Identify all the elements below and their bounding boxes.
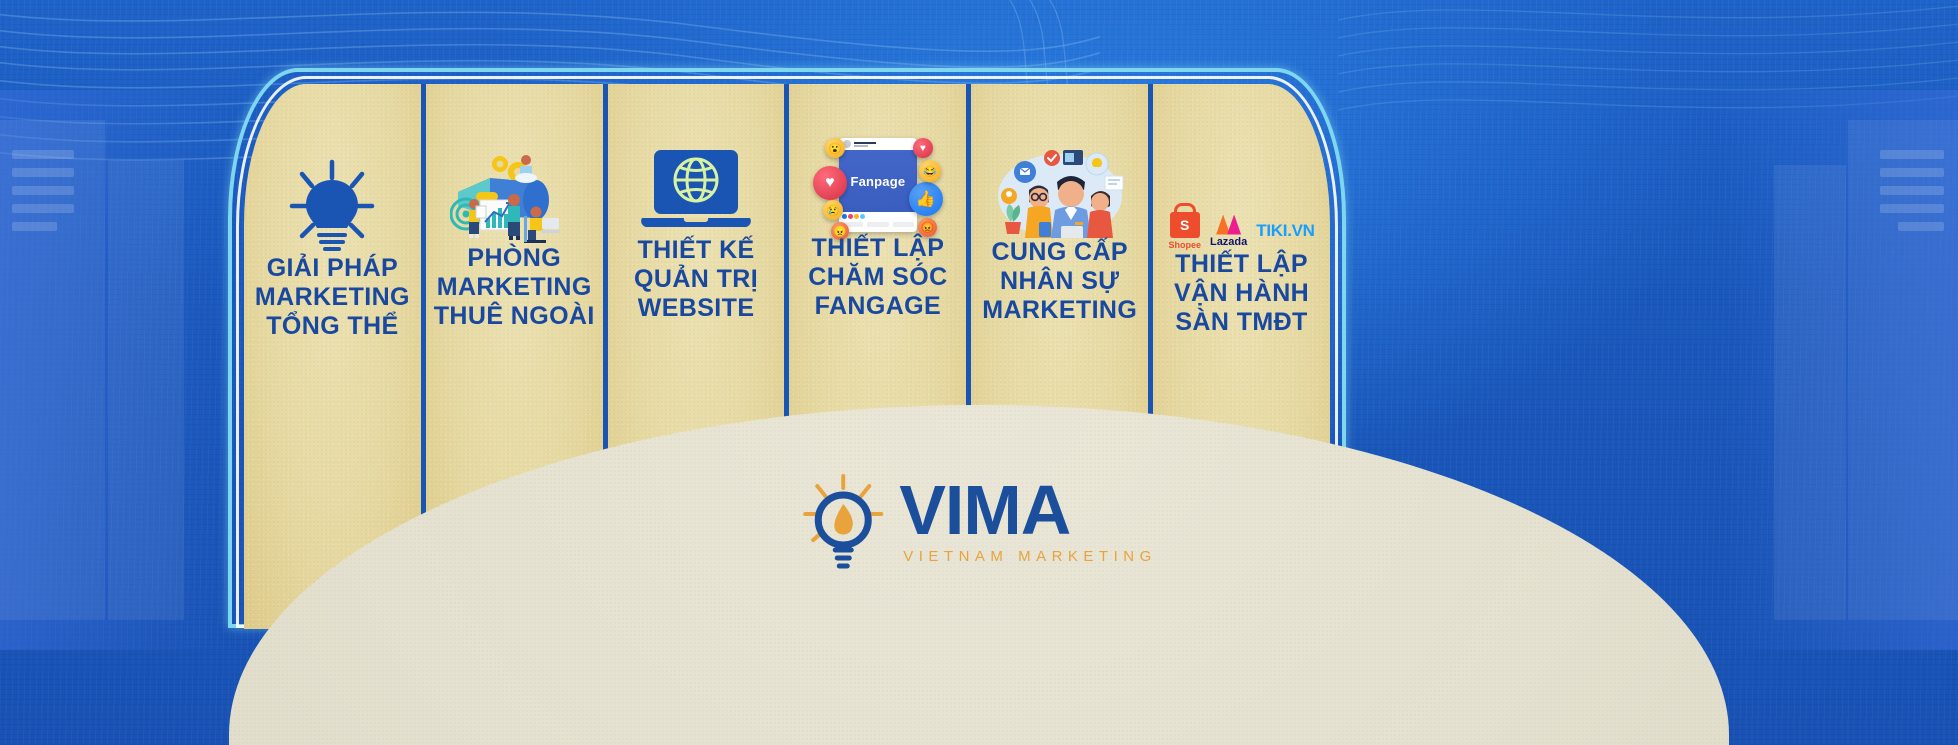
service-label: THIẾT LẬP CHĂM SÓC FANGAGE: [802, 234, 953, 321]
tiki-suffix: .VN: [1287, 221, 1314, 241]
lazada-mark-icon: [1216, 215, 1241, 235]
laptop-globe-icon: [638, 146, 754, 236]
fanpage-post-footer: [839, 212, 917, 232]
lazada-label: Lazada: [1210, 236, 1247, 248]
service-label: THIẾT KẾ QUẢN TRỊ WEBSITE: [628, 236, 764, 323]
facebook-fanpage-icon: Fanpage: [813, 134, 943, 234]
ecommerce-logos-icon: S Shopee Lazada TIKI .VN: [1168, 212, 1314, 250]
lightbulb-flame-icon: [801, 474, 885, 570]
tiki-label: TIKI: [1256, 221, 1287, 241]
reaction-sad: 😢: [823, 200, 843, 220]
marketing-team-icon: [995, 146, 1125, 238]
megaphone-team-icon: [450, 152, 578, 244]
service-label: GIẢI PHÁP MARKETING TỔNG THỂ: [249, 254, 416, 341]
lightbulb-icon: [286, 158, 378, 254]
reaction-haha: 😂: [919, 160, 941, 182]
shopee-bag-icon: S: [1170, 212, 1200, 238]
vima-wordmark: VIMA VIETNAM MARKETING: [899, 479, 1157, 565]
reaction-dots: [842, 214, 914, 219]
fanpage-post-card: Fanpage: [839, 138, 917, 232]
reaction-love-big: ♥: [813, 166, 847, 200]
fanpage-title: Fanpage: [839, 150, 917, 212]
icon-zone: Fanpage: [789, 84, 966, 234]
reaction-wow: 😮: [825, 138, 845, 158]
tiki-logo: TIKI .VN: [1256, 221, 1314, 241]
brand-name: VIMA: [899, 479, 1157, 542]
post-meta: [854, 142, 913, 147]
icon-zone: [608, 84, 785, 236]
banner-stage: GIẢI PHÁP MARKETING TỔNG THỂ: [0, 0, 1958, 745]
icon-zone: S Shopee Lazada TIKI .VN: [1153, 84, 1330, 250]
action-bar: [842, 222, 914, 227]
icon-zone: [426, 84, 603, 244]
reaction-like-big: 👍: [909, 182, 943, 216]
shopee-logo: S Shopee: [1168, 212, 1201, 250]
icon-zone: [971, 84, 1148, 238]
lazada-logo: Lazada: [1210, 215, 1247, 248]
brand-tagline: VIETNAM MARKETING: [899, 548, 1157, 565]
reaction-love-small: ♥: [913, 138, 933, 158]
service-label: CUNG CẤP NHÂN SỰ MARKETING: [976, 238, 1143, 325]
vima-logo[interactable]: VIMA VIETNAM MARKETING: [801, 474, 1157, 570]
service-label: PHÒNG MARKETING THUÊ NGOÀI: [428, 244, 601, 331]
fanpage-post-header: [839, 138, 917, 150]
shopee-label: Shopee: [1168, 240, 1201, 250]
service-label: THIẾT LẬP VẬN HÀNH SÀN TMĐT: [1168, 250, 1315, 337]
icon-zone: [244, 84, 421, 254]
